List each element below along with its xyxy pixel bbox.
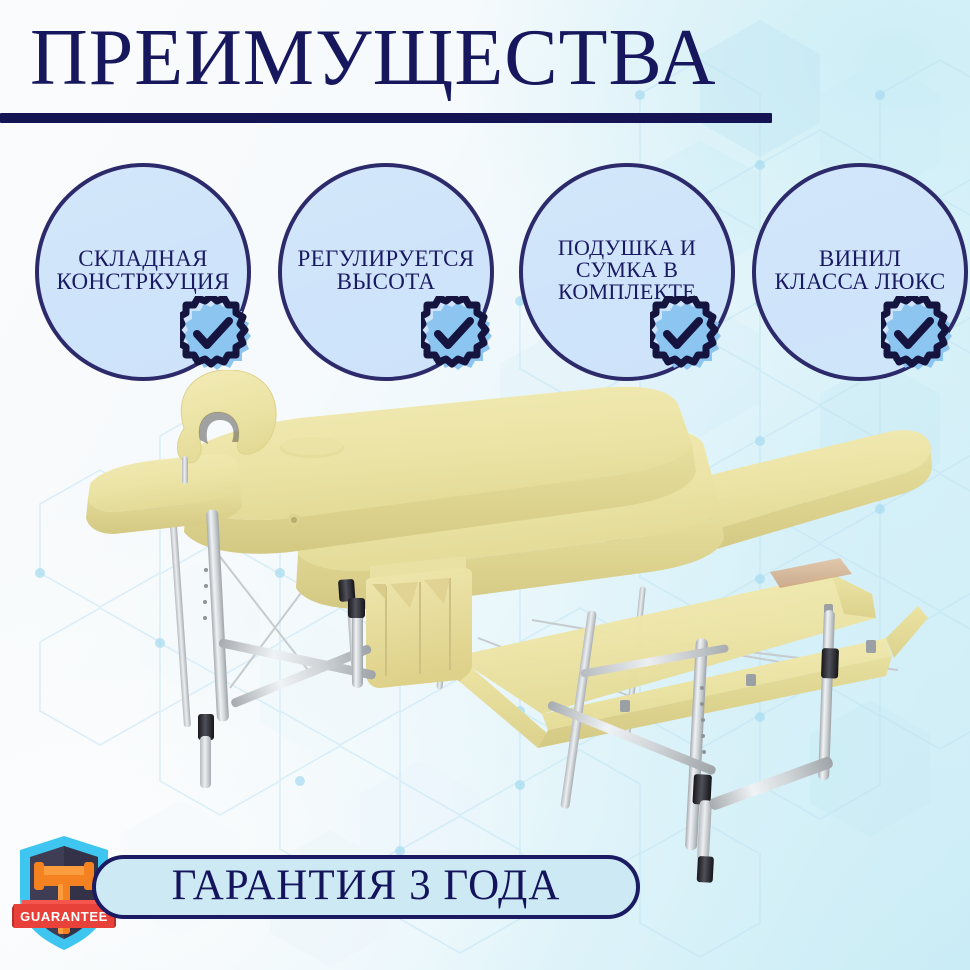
title-underline-rule bbox=[0, 113, 772, 123]
page-title-block: ПРЕИМУЩЕСТВА bbox=[0, 18, 970, 100]
feature-label: ПОДУШКА И СУМКА В КОМПЛЕКТЕ bbox=[523, 237, 731, 303]
check-badge-icon bbox=[180, 296, 254, 374]
front-left-leg bbox=[198, 509, 229, 788]
front-right-leg-assembly bbox=[547, 610, 839, 883]
check-badge-icon bbox=[421, 296, 495, 374]
feature-label: ВИНИЛ КЛАССА ЛЮКС bbox=[756, 247, 964, 293]
check-badge-icon bbox=[881, 296, 955, 374]
feature-label: СКЛАДНАЯ КОНСТРКУЦИЯ bbox=[39, 247, 247, 293]
guarantee-banner[interactable]: ГАРАНТИЯ 3 ГОДА bbox=[92, 855, 640, 919]
guarantee-label: ГАРАНТИЯ 3 ГОДА bbox=[172, 861, 561, 910]
shield-ribbon-label: GUARANTEE bbox=[20, 909, 108, 924]
feature-label: РЕГУЛИРУЕТСЯ ВЫСОТА bbox=[282, 247, 490, 293]
organizer-pocket bbox=[366, 556, 472, 688]
page-title: ПРЕИМУЩЕСТВА bbox=[0, 18, 970, 100]
massage-table-product-image bbox=[80, 370, 940, 930]
promo-canvas: ПРЕИМУЩЕСТВА СКЛАДНАЯ КОНСТРКУЦИЯ РЕГУЛИ… bbox=[0, 0, 970, 970]
check-badge-icon bbox=[650, 296, 724, 374]
